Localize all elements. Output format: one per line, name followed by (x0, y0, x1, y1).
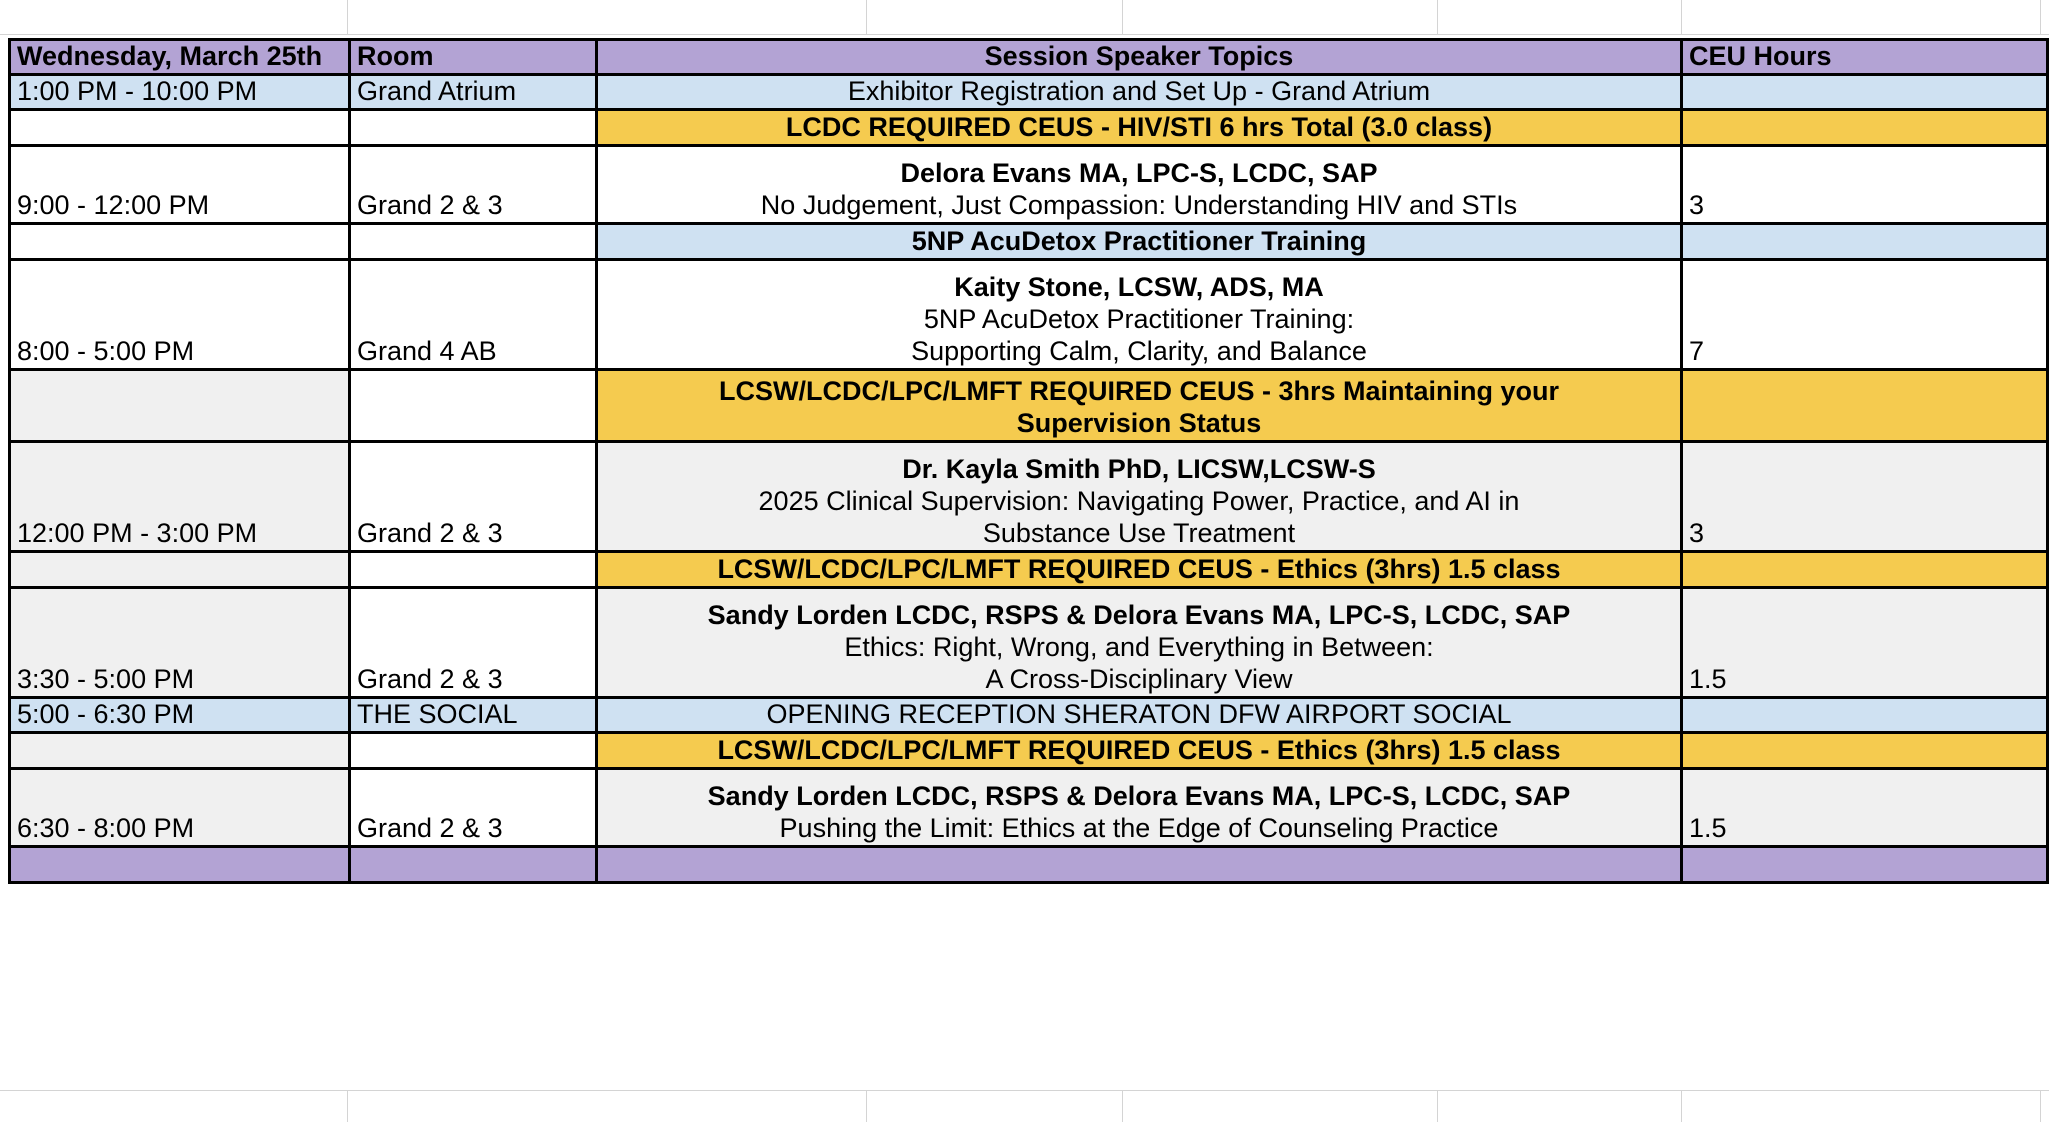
column-header-room: Room (350, 40, 597, 75)
table-row: 3:30 - 5:00 PM Grand 2 & 3 Sandy Lorden … (10, 587, 2048, 697)
cell-topic: Exhibitor Registration and Set Up - Gran… (597, 74, 1682, 109)
banner-line: LCSW/LCDC/LPC/LMFT REQUIRED CEUS - 3hrs … (604, 376, 1674, 408)
banner-row: LCDC REQUIRED CEUS - HIV/STI 6 hrs Total… (10, 109, 2048, 145)
spreadsheet-grid-top (0, 0, 2049, 35)
cell-ceu: 3 (1682, 441, 2048, 551)
cell-ceu: 1.5 (1682, 587, 2048, 697)
session-speaker: Delora Evans MA, LPC-S, LCDC, SAP (604, 158, 1674, 190)
cell-session: Sandy Lorden LCDC, RSPS & Delora Evans M… (597, 587, 1682, 697)
cell-ceu (1682, 74, 2048, 109)
cell-time: 1:00 PM - 10:00 PM (10, 74, 350, 109)
cell-ceu: 7 (1682, 259, 2048, 369)
session-speaker: Kaity Stone, LCSW, ADS, MA (604, 272, 1674, 304)
cell-session: Delora Evans MA, LPC-S, LCDC, SAP No Jud… (597, 145, 1682, 223)
session-speaker: Sandy Lorden LCDC, RSPS & Delora Evans M… (604, 600, 1674, 632)
cell-session: Kaity Stone, LCSW, ADS, MA 5NP AcuDetox … (597, 259, 1682, 369)
cell-ceu (1682, 732, 2048, 768)
cell-ceu (1682, 551, 2048, 587)
cell-room: Grand 2 & 3 (350, 587, 597, 697)
cell-time (10, 846, 350, 882)
conference-schedule-table: Wednesday, March 25th Room Session Speak… (8, 38, 2049, 884)
column-header-day: Wednesday, March 25th (10, 40, 350, 75)
cell-session: Sandy Lorden LCDC, RSPS & Delora Evans M… (597, 768, 1682, 846)
session-title-line: Supporting Calm, Clarity, and Balance (604, 336, 1674, 368)
cell-time: 3:30 - 5:00 PM (10, 587, 350, 697)
banner-row: LCSW/LCDC/LPC/LMFT REQUIRED CEUS - 3hrs … (10, 369, 2048, 441)
session-title-line: Pushing the Limit: Ethics at the Edge of… (604, 813, 1674, 845)
session-title-line: Ethics: Right, Wrong, and Everything in … (604, 632, 1674, 664)
session-title-line: Substance Use Treatment (604, 518, 1674, 550)
cell-time (10, 732, 350, 768)
cell-room (350, 846, 597, 882)
cell-room: Grand 2 & 3 (350, 145, 597, 223)
cell-room (350, 369, 597, 441)
session-title-line: 5NP AcuDetox Practitioner Training: (604, 304, 1674, 336)
table-row: 12:00 PM - 3:00 PM Grand 2 & 3 Dr. Kayla… (10, 441, 2048, 551)
cell-room: Grand 2 & 3 (350, 768, 597, 846)
cell-time: 8:00 - 5:00 PM (10, 259, 350, 369)
requirement-banner: LCSW/LCDC/LPC/LMFT REQUIRED CEUS - Ethic… (597, 732, 1682, 768)
session-title-line: No Judgement, Just Compassion: Understan… (604, 190, 1674, 222)
table-row: 1:00 PM - 10:00 PM Grand Atrium Exhibito… (10, 74, 2048, 109)
session-speaker: Sandy Lorden LCDC, RSPS & Delora Evans M… (604, 781, 1674, 813)
banner-row: LCSW/LCDC/LPC/LMFT REQUIRED CEUS - Ethic… (10, 732, 2048, 768)
cell-time: 12:00 PM - 3:00 PM (10, 441, 350, 551)
cell-ceu (1682, 223, 2048, 259)
cell-room (350, 551, 597, 587)
cell-time (10, 223, 350, 259)
cell-room (350, 109, 597, 145)
cell-ceu: 3 (1682, 145, 2048, 223)
cell-ceu (1682, 369, 2048, 441)
requirement-banner: LCSW/LCDC/LPC/LMFT REQUIRED CEUS - Ethic… (597, 551, 1682, 587)
cell-time (10, 109, 350, 145)
cell-ceu (1682, 109, 2048, 145)
banner-row: LCSW/LCDC/LPC/LMFT REQUIRED CEUS - Ethic… (10, 551, 2048, 587)
cell-time (10, 551, 350, 587)
cell-topic: OPENING RECEPTION SHERATON DFW AIRPORT S… (597, 697, 1682, 732)
cell-time: 6:30 - 8:00 PM (10, 768, 350, 846)
requirement-banner: LCDC REQUIRED CEUS - HIV/STI 6 hrs Total… (597, 109, 1682, 145)
spreadsheet-grid-bottom (0, 1090, 2049, 1122)
table-row: 8:00 - 5:00 PM Grand 4 AB Kaity Stone, L… (10, 259, 2048, 369)
cell-room: THE SOCIAL (350, 697, 597, 732)
table-row: 6:30 - 8:00 PM Grand 2 & 3 Sandy Lorden … (10, 768, 2048, 846)
cell-topic (597, 846, 1682, 882)
cell-time: 5:00 - 6:30 PM (10, 697, 350, 732)
table-footer-row (10, 846, 2048, 882)
banner-row: 5NP AcuDetox Practitioner Training (10, 223, 2048, 259)
session-title-line: 2025 Clinical Supervision: Navigating Po… (604, 486, 1674, 518)
schedule-screenshot: Wednesday, March 25th Room Session Speak… (0, 0, 2049, 1122)
cell-room: Grand Atrium (350, 74, 597, 109)
requirement-banner: LCSW/LCDC/LPC/LMFT REQUIRED CEUS - 3hrs … (597, 369, 1682, 441)
column-header-topic: Session Speaker Topics (597, 40, 1682, 75)
table-row: 9:00 - 12:00 PM Grand 2 & 3 Delora Evans… (10, 145, 2048, 223)
cell-ceu (1682, 846, 2048, 882)
cell-ceu: 1.5 (1682, 768, 2048, 846)
cell-time (10, 369, 350, 441)
column-header-ceu: CEU Hours (1682, 40, 2048, 75)
cell-room: Grand 4 AB (350, 259, 597, 369)
cell-ceu (1682, 697, 2048, 732)
cell-room (350, 223, 597, 259)
session-speaker: Dr. Kayla Smith PhD, LICSW,LCSW-S (604, 454, 1674, 486)
cell-time: 9:00 - 12:00 PM (10, 145, 350, 223)
table-header-row: Wednesday, March 25th Room Session Speak… (10, 40, 2048, 75)
session-title-line: A Cross-Disciplinary View (604, 664, 1674, 696)
cell-room: Grand 2 & 3 (350, 441, 597, 551)
cell-session: Dr. Kayla Smith PhD, LICSW,LCSW-S 2025 C… (597, 441, 1682, 551)
track-banner: 5NP AcuDetox Practitioner Training (597, 223, 1682, 259)
cell-room (350, 732, 597, 768)
table-row: 5:00 - 6:30 PM THE SOCIAL OPENING RECEPT… (10, 697, 2048, 732)
banner-line: Supervision Status (604, 408, 1674, 440)
